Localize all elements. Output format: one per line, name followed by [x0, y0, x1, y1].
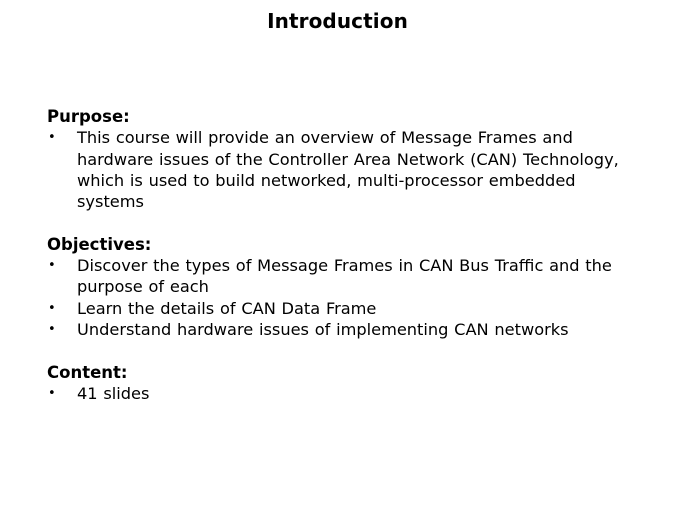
slide-body: Purpose: • This course will provide an o…: [47, 106, 625, 404]
page-title: Introduction: [0, 8, 675, 34]
bullet-list-content: • 41 slides: [47, 383, 625, 404]
bullet-list-purpose: • This course will provide an overview o…: [47, 127, 625, 212]
list-item: • This course will provide an overview o…: [47, 127, 625, 212]
list-item-label: This course will provide an overview of …: [77, 127, 625, 212]
bullet-point-icon: •: [48, 383, 60, 404]
section-header-objectives: Objectives:: [47, 234, 625, 255]
bullet-point-icon: •: [48, 319, 60, 340]
list-item: • Learn the details of CAN Data Frame: [47, 298, 625, 319]
section-header-purpose: Purpose:: [47, 106, 625, 127]
bullet-point-icon: •: [48, 127, 60, 148]
list-item-label: Understand hardware issues of implementi…: [77, 319, 625, 340]
list-item-label: Discover the types of Message Frames in …: [77, 255, 625, 298]
bullet-point-icon: •: [48, 255, 60, 276]
section-header-content: Content:: [47, 362, 625, 383]
section-objectives: Objectives: • Discover the types of Mess…: [47, 234, 625, 340]
list-item-label: 41 slides: [77, 383, 625, 404]
slide-canvas: Introduction Purpose: • This course will…: [0, 0, 675, 506]
list-item: • Discover the types of Message Frames i…: [47, 255, 625, 298]
bullet-list-objectives: • Discover the types of Message Frames i…: [47, 255, 625, 340]
section-content: Content: • 41 slides: [47, 362, 625, 405]
list-item: • 41 slides: [47, 383, 625, 404]
bullet-point-icon: •: [48, 298, 60, 319]
list-item: • Understand hardware issues of implemen…: [47, 319, 625, 340]
section-purpose: Purpose: • This course will provide an o…: [47, 106, 625, 212]
list-item-label: Learn the details of CAN Data Frame: [77, 298, 625, 319]
